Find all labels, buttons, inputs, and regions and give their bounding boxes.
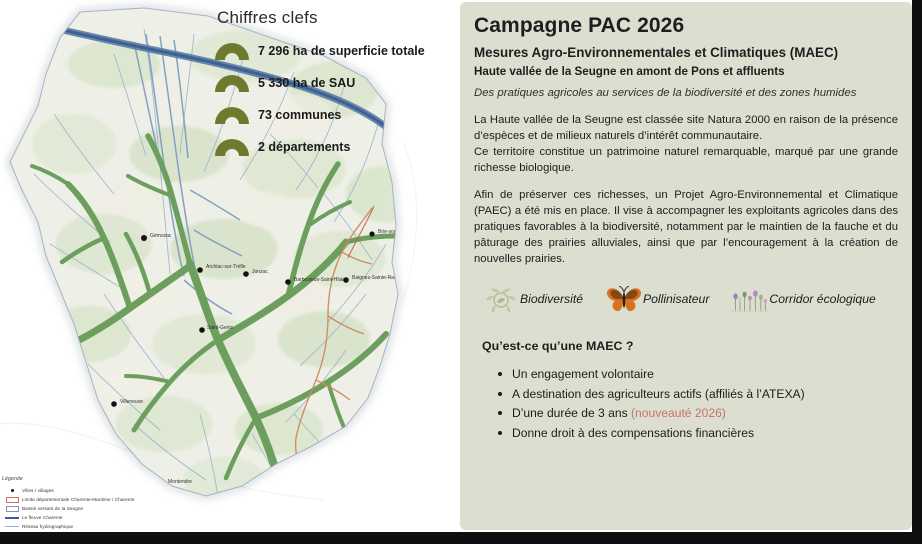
map-legend: Légende Villes / villages Limite départe… bbox=[2, 475, 302, 540]
legend-label: Limite départementale Charente-Maritime … bbox=[22, 496, 135, 503]
town-dot-icon bbox=[2, 489, 22, 492]
maec-question-heading: Qu’est-ce qu’une MAEC ? bbox=[482, 339, 898, 353]
theme-icon-strip: Biodiversité bbox=[482, 283, 898, 315]
slide-edge-bottom bbox=[0, 532, 922, 544]
wildflower-meadow-icon bbox=[731, 283, 769, 315]
red-outline-swatch-icon bbox=[2, 497, 22, 503]
maec-bullet-text: Donne droit à des compensations financiè… bbox=[512, 426, 754, 440]
key-figure-label: 73 communes bbox=[258, 108, 341, 122]
theme-item-biodiversite: Biodiversité bbox=[482, 283, 583, 315]
maec-bullet-text: A destination des agriculteurs actifs (a… bbox=[512, 387, 805, 401]
legend-row-reseau-hydro: Réseau hydrographique bbox=[2, 522, 302, 531]
leaf-wreath-icon bbox=[482, 283, 520, 315]
svg-text:Gémozac: Gémozac bbox=[150, 233, 172, 239]
grey-line-icon bbox=[2, 526, 22, 527]
key-figure-row: 73 communes bbox=[205, 105, 467, 124]
maec-bullet-item: A destination des agriculteurs actifs (a… bbox=[498, 385, 898, 405]
svg-text:Barbezieux-Saint-Hilaire: Barbezieux-Saint-Hilaire bbox=[294, 277, 348, 283]
maec-bullet-list: Un engagement volontaire A destination d… bbox=[498, 365, 898, 443]
maec-bullet-text: Un engagement volontaire bbox=[512, 367, 654, 381]
slide-edge-right bbox=[912, 0, 922, 544]
panel-paragraph: Afin de préserver ces richesses, un Proj… bbox=[474, 187, 898, 267]
legend-label: Villes / villages bbox=[22, 487, 54, 494]
svg-text:Archiac-sur-Trèfle: Archiac-sur-Trèfle bbox=[206, 264, 246, 270]
info-panel: Campagne PAC 2026 Mesures Agro-Environne… bbox=[460, 2, 912, 530]
legend-label: Réseau hydrographique bbox=[22, 523, 73, 530]
panel-body: La Haute vallée de la Seugne est classée… bbox=[474, 112, 898, 267]
panel-tagline: Des pratiques agricoles au services de l… bbox=[474, 87, 898, 99]
key-figures-title: Chiffres clefs bbox=[205, 0, 467, 28]
svg-text:Villeneuve: Villeneuve bbox=[120, 399, 143, 405]
panel-subtitle-1: Mesures Agro-Environnementales et Climat… bbox=[474, 45, 898, 60]
key-figure-label: 2 départements bbox=[258, 140, 350, 154]
key-figures-block: Chiffres clefs 7 296 ha de superficie to… bbox=[205, 0, 467, 210]
demi-arc-icon bbox=[215, 41, 249, 60]
blue-line-icon bbox=[2, 517, 22, 519]
maec-bullet-text: D’une durée de 3 ans bbox=[512, 406, 631, 420]
key-figure-label: 5 330 ha de SAU bbox=[258, 76, 355, 90]
maec-bullet-item: D’une durée de 3 ans (nouveauté 2026) bbox=[498, 404, 898, 424]
legend-label: Le fleuve Charente bbox=[22, 514, 63, 521]
key-figure-row: 5 330 ha de SAU bbox=[205, 73, 467, 92]
demi-arc-icon bbox=[215, 73, 249, 92]
key-figure-row: 2 départements bbox=[205, 137, 467, 156]
butterfly-icon bbox=[605, 283, 643, 315]
panel-title: Campagne PAC 2026 bbox=[474, 14, 898, 38]
legend-title: Légende bbox=[2, 475, 302, 483]
theme-caption: Biodiversité bbox=[520, 292, 583, 306]
theme-item-corridor: Corridor écologique bbox=[731, 283, 875, 315]
legend-row-bassin-versant: Bassin versant de la Seugne bbox=[2, 504, 302, 513]
demi-arc-icon bbox=[215, 105, 249, 124]
theme-caption: Corridor écologique bbox=[769, 292, 875, 306]
theme-caption: Pollinisateur bbox=[643, 292, 709, 306]
theme-item-pollinisateur: Pollinisateur bbox=[605, 283, 709, 315]
legend-label: Bassin versant de la Seugne bbox=[22, 505, 83, 512]
poster-root: Pons Gémozac Archiac-sur-Trèfle Jonzac S… bbox=[0, 0, 922, 544]
blue-outline-swatch-icon bbox=[2, 506, 22, 512]
panel-paragraph: La Haute vallée de la Seugne est classée… bbox=[474, 112, 898, 176]
legend-row-limite-dept: Limite départementale Charente-Maritime … bbox=[2, 495, 302, 504]
key-figure-row: 7 296 ha de superficie totale bbox=[205, 41, 467, 60]
panel-subtitle-2: Haute vallée de la Seugne en amont de Po… bbox=[474, 65, 898, 78]
svg-text:Saint-Genis: Saint-Genis bbox=[207, 325, 234, 331]
maec-bullet-highlight: (nouveauté 2026) bbox=[631, 406, 726, 420]
maec-bullet-item: Donne droit à des compensations financiè… bbox=[498, 424, 898, 444]
svg-text:Jonzac: Jonzac bbox=[252, 269, 268, 275]
demi-arc-icon bbox=[215, 137, 249, 156]
key-figure-label: 7 296 ha de superficie totale bbox=[258, 44, 425, 58]
legend-row-fleuve-charente: Le fleuve Charente bbox=[2, 513, 302, 522]
legend-row-villes: Villes / villages bbox=[2, 486, 302, 495]
maec-bullet-item: Un engagement volontaire bbox=[498, 365, 898, 385]
